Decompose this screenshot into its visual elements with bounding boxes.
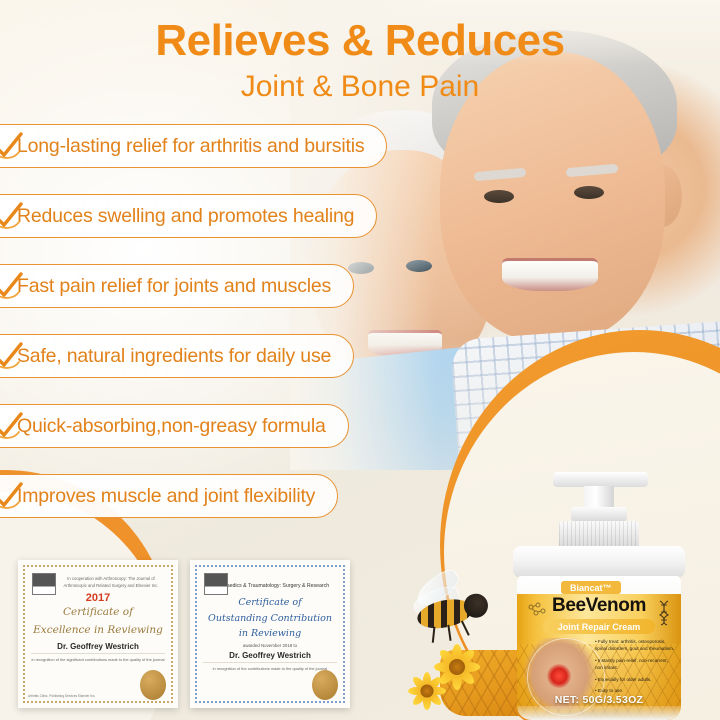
benefit-item-2: Reduces swelling and promotes healing <box>0 194 377 238</box>
product-claim: Fully treat: arthritis, osteoporosis, sp… <box>595 638 675 653</box>
benefit-item-1: Long-lasting relief for arthritis and bu… <box>0 124 387 168</box>
jar-lid <box>513 546 685 578</box>
benefit-item-6: Improves muscle and joint flexibility <box>0 474 338 518</box>
elsevier-logo-icon <box>204 573 228 595</box>
certificate-1: In cooperation with Arthroscopy: The Jou… <box>18 560 178 708</box>
gold-seal-icon <box>312 670 338 700</box>
certificate-title-line2: Excellence in Reviewing <box>31 623 165 639</box>
certificate-top-text: In cooperation with Arthroscopy: The Jou… <box>57 576 165 589</box>
check-icon <box>0 479 25 513</box>
pump-stem <box>584 486 614 508</box>
pump-base <box>559 521 639 548</box>
product-jar[interactable]: Biancat™ BeeVenom Joint Repair Cream Ful… <box>505 472 695 720</box>
certificate-tiny-footer: Arthritis Clinic, Publishing Services El… <box>28 694 95 699</box>
certificate-title-line1: Certificate of <box>203 596 337 610</box>
benefit-label: Reduces swelling and promotes healing <box>17 205 354 228</box>
benefit-label: Fast pain relief for joints and muscles <box>17 275 331 298</box>
benefit-label: Long-lasting relief for arthritis and bu… <box>17 135 364 158</box>
gold-seal-icon <box>140 670 166 700</box>
certificates-group: In cooperation with Arthroscopy: The Jou… <box>18 560 350 708</box>
certificate-footer: in recognition of the contributions made… <box>203 662 337 672</box>
jar-label: Biancat™ BeeVenom Joint Repair Cream Ful… <box>517 576 681 720</box>
ad-canvas: Relieves & Reduces Joint & Bone Pain Lon… <box>0 0 720 720</box>
benefit-item-5: Quick-absorbing,non-greasy formula <box>0 404 349 448</box>
headline-line2: Joint & Bone Pain <box>0 64 720 109</box>
certificate-title-line1: Certificate of <box>31 605 165 621</box>
check-icon <box>0 269 25 303</box>
headline-line1: Relieves & Reduces <box>0 18 720 64</box>
check-icon <box>0 409 25 443</box>
pump-collar <box>571 507 627 522</box>
pain-point-glow <box>547 664 571 688</box>
benefit-label: Improves muscle and joint flexibility <box>17 485 315 508</box>
benefit-label: Quick-absorbing,non-greasy formula <box>17 415 326 438</box>
pump-cap <box>553 472 648 487</box>
net-weight-label: NET: 50G/3.53OZ <box>517 694 681 706</box>
check-icon <box>0 129 25 163</box>
certificate-recipient: Dr. Geoffrey Westrich <box>31 642 165 651</box>
certificate-title-line2: Outstanding Contribution in Reviewing <box>203 612 337 641</box>
certificate-awarded-text: awarded November 2018 to <box>203 643 337 648</box>
brand-badge: Biancat™ <box>561 581 621 594</box>
product-claim: Instantly pain-relief, non-recurrent, no… <box>595 657 675 672</box>
benefit-label: Safe, natural ingredients for daily use <box>17 345 331 368</box>
product-claim: Especially for older adults. <box>595 676 675 683</box>
product-subtitle: Joint Repair Cream <box>543 619 655 634</box>
headline: Relieves & Reduces Joint & Bone Pain <box>0 18 720 109</box>
product-name: BeeVenom <box>517 595 681 617</box>
certificate-2: Orthopaedics & Traumatology: Surgery & R… <box>190 560 350 708</box>
benefits-list: Long-lasting relief for arthritis and bu… <box>0 124 387 544</box>
flower-icon <box>408 672 446 710</box>
jar-bottom-band <box>517 706 681 720</box>
benefit-item-3: Fast pain relief for joints and muscles <box>0 264 354 308</box>
certificate-recipient: Dr. Geoffrey Westrich <box>203 651 337 660</box>
benefit-item-4: Safe, natural ingredients for daily use <box>0 334 354 378</box>
check-icon <box>0 339 25 373</box>
elsevier-logo-icon <box>32 573 56 595</box>
certificate-footer: in recognition of the significant contri… <box>31 653 165 663</box>
check-icon <box>0 199 25 233</box>
bee-icon <box>392 565 500 653</box>
